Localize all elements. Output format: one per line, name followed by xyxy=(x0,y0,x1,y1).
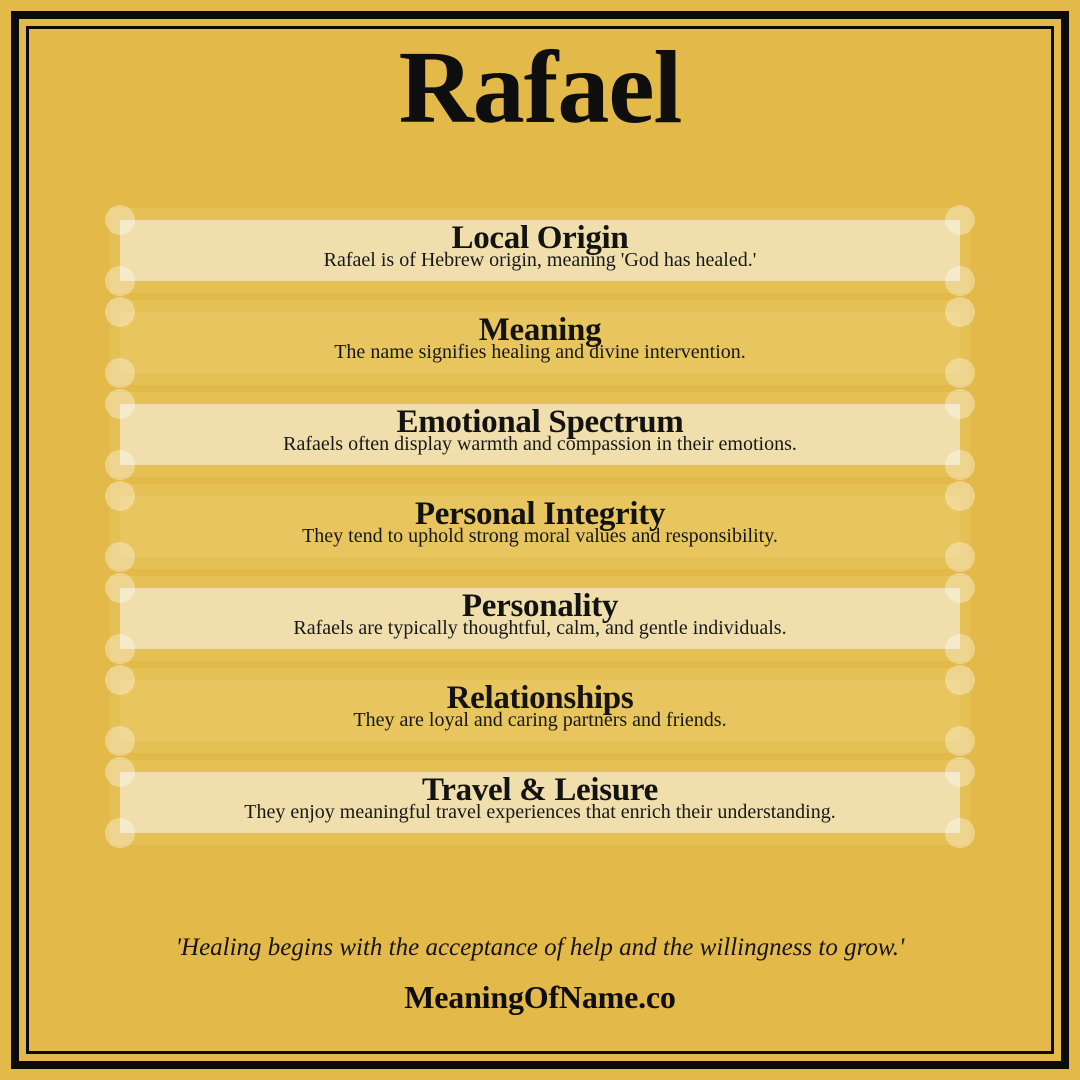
attribute-card-subtitle: Rafaels often display warmth and compass… xyxy=(120,433,960,455)
footer-quote: 'Healing begins with the acceptance of h… xyxy=(0,934,1080,962)
attribute-card-text: Personal IntegrityThey tend to uphold st… xyxy=(120,496,960,557)
attribute-card: Travel & LeisureThey enjoy meaningful tr… xyxy=(110,760,970,845)
attribute-card-subtitle: Rafael is of Hebrew origin, meaning 'God… xyxy=(120,249,960,271)
attribute-card-panel: Emotional SpectrumRafaels often display … xyxy=(120,404,960,465)
attribute-card: RelationshipsThey are loyal and caring p… xyxy=(110,668,970,753)
attribute-card-subtitle: They tend to uphold strong moral values … xyxy=(120,525,960,547)
attribute-card-panel: Local OriginRafael is of Hebrew origin, … xyxy=(120,220,960,281)
attribute-card-panel: PersonalityRafaels are typically thought… xyxy=(120,588,960,649)
attribute-card-panel: MeaningThe name signifies healing and di… xyxy=(120,312,960,373)
attribute-card-subtitle: Rafaels are typically thoughtful, calm, … xyxy=(120,617,960,639)
attribute-card-panel: RelationshipsThey are loyal and caring p… xyxy=(120,680,960,741)
attribute-card: Local OriginRafael is of Hebrew origin, … xyxy=(110,208,970,293)
attribute-card-text: MeaningThe name signifies healing and di… xyxy=(120,312,960,373)
attribute-card-subtitle: They enjoy meaningful travel experiences… xyxy=(120,801,960,823)
footer-brand: MeaningOfName.co xyxy=(0,980,1080,1015)
attribute-card-text: Emotional SpectrumRafaels often display … xyxy=(120,404,960,465)
attribute-card-panel: Travel & LeisureThey enjoy meaningful tr… xyxy=(120,772,960,833)
attribute-card-subtitle: They are loyal and caring partners and f… xyxy=(120,709,960,731)
attribute-card: Personal IntegrityThey tend to uphold st… xyxy=(110,484,970,569)
attribute-card: Emotional SpectrumRafaels often display … xyxy=(110,392,970,477)
poster: Rafael Local OriginRafael is of Hebrew o… xyxy=(0,0,1080,1080)
attribute-card-text: Travel & LeisureThey enjoy meaningful tr… xyxy=(120,772,960,833)
attribute-card-list: Local OriginRafael is of Hebrew origin, … xyxy=(110,208,970,852)
attribute-card-text: Local OriginRafael is of Hebrew origin, … xyxy=(120,220,960,281)
attribute-card-text: PersonalityRafaels are typically thought… xyxy=(120,588,960,649)
attribute-card-panel: Personal IntegrityThey tend to uphold st… xyxy=(120,496,960,557)
poster-content: Rafael Local OriginRafael is of Hebrew o… xyxy=(0,0,1080,1080)
attribute-card-text: RelationshipsThey are loyal and caring p… xyxy=(120,680,960,741)
attribute-card-subtitle: The name signifies healing and divine in… xyxy=(120,341,960,363)
attribute-card: MeaningThe name signifies healing and di… xyxy=(110,300,970,385)
page-title: Rafael xyxy=(0,30,1080,146)
attribute-card: PersonalityRafaels are typically thought… xyxy=(110,576,970,661)
